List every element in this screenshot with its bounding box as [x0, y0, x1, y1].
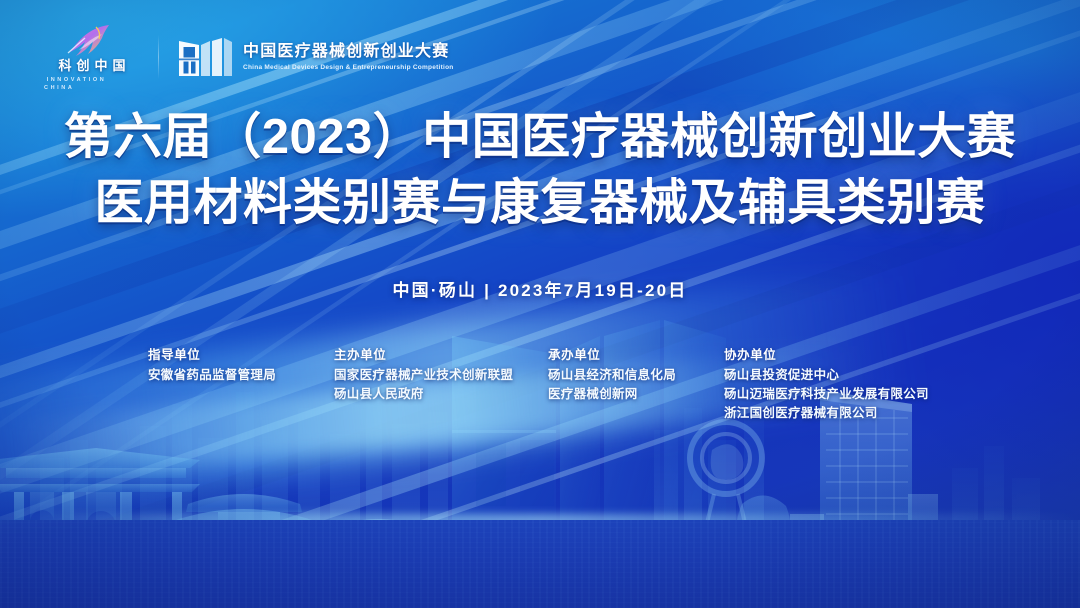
- credit-column-guiding: 指导单位 安徽省药品监督管理局: [148, 344, 334, 423]
- open-door-window-icon: [177, 34, 233, 80]
- title-line-1: 第六届（2023）中国医疗器械创新创业大赛: [0, 104, 1080, 170]
- credit-column-organizer: 承办单位 砀山县经济和信息化局 医疗器械创新网: [548, 344, 724, 423]
- credit-org: 砀山县人民政府: [334, 385, 548, 404]
- event-location-date: 中国·砀山 | 2023年7月19日-20日: [0, 276, 1080, 301]
- credit-org: 浙江国创医疗器械有限公司: [724, 404, 964, 423]
- logo-bar: 科创中国 INNOVATION CHINA 中国医疗: [44, 22, 454, 92]
- credit-column-host: 主办单位 国家医疗器械产业技术创新联盟 砀山县人民政府: [334, 344, 548, 423]
- logo-competition[interactable]: 中国医疗器械创新创业大赛 China Medical Devices Desig…: [177, 34, 454, 80]
- title-line-2: 医用材料类别赛与康复器械及辅具类别赛: [0, 170, 1080, 236]
- credit-column-coorganizer: 协办单位 砀山县投资促进中心 砀山迈瑞医疗科技产业发展有限公司 浙江国创医疗器械…: [724, 344, 964, 423]
- credit-role: 承办单位: [548, 344, 724, 366]
- credit-role: 指导单位: [148, 344, 334, 366]
- banner-title: 第六届（2023）中国医疗器械创新创业大赛 医用材料类别赛与康复器械及辅具类别赛: [0, 104, 1080, 236]
- competition-name-en: China Medical Devices Design & Entrepren…: [243, 63, 454, 72]
- credit-org: 医疗器械创新网: [548, 385, 724, 404]
- credit-org: 安徽省药品监督管理局: [148, 366, 334, 385]
- innovation-china-cn: 科创中国: [53, 59, 130, 73]
- logo-innovation-china[interactable]: 科创中国 INNOVATION CHINA: [44, 22, 140, 92]
- credit-role: 协办单位: [724, 344, 964, 366]
- credit-org: 国家医疗器械产业技术创新联盟: [334, 366, 548, 385]
- logo-divider: [158, 35, 159, 79]
- credit-org: 砀山县经济和信息化局: [548, 366, 724, 385]
- organizer-credits: 指导单位 安徽省药品监督管理局 主办单位 国家医疗器械产业技术创新联盟 砀山县人…: [148, 344, 964, 423]
- innovation-china-en: INNOVATION CHINA: [44, 76, 140, 92]
- competition-name-cn: 中国医疗器械创新创业大赛: [243, 43, 454, 61]
- phoenix-bird-icon: [61, 22, 123, 56]
- credit-role: 主办单位: [334, 344, 548, 366]
- conference-banner: 科创中国 INNOVATION CHINA 中国医疗: [0, 0, 1080, 608]
- credit-org: 砀山迈瑞医疗科技产业发展有限公司: [724, 385, 964, 404]
- credit-org: 砀山县投资促进中心: [724, 366, 964, 385]
- competition-logo-text: 中国医疗器械创新创业大赛 China Medical Devices Desig…: [243, 43, 454, 72]
